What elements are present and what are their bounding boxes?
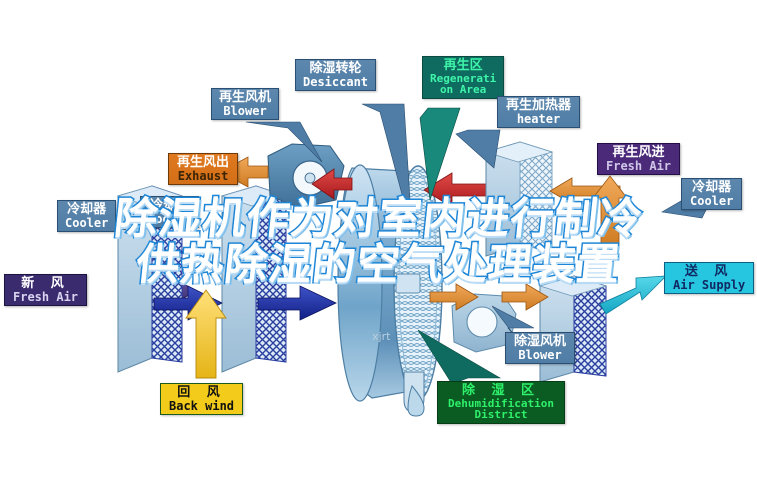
label-regeneration-heater-cn: 再生加热器: [506, 99, 571, 113]
label-cooler-left-1[interactable]: 冷却器 Cooler: [57, 200, 116, 232]
label-cooler-right-en: Cooler: [690, 195, 733, 208]
label-regeneration-area[interactable]: 再生区 Regenerati on Area: [422, 56, 504, 99]
label-cooler-left-1-cn: 冷却器: [65, 203, 108, 217]
label-dehumidification-blower[interactable]: 除湿风机 Blower: [505, 332, 575, 364]
watermark-text: xjrt: [372, 330, 391, 343]
label-regeneration-area-cn: 再生区: [430, 59, 496, 73]
label-fresh-air-cn: 新 风: [13, 277, 78, 291]
label-dehumidification-district-cn: 除 湿 区: [448, 384, 554, 398]
condensate-drip-icon: [404, 372, 424, 416]
label-regeneration-blower-en: Blower: [219, 105, 271, 118]
label-fresh-air[interactable]: 新 风 Fresh Air: [4, 274, 87, 306]
label-dehumidification-blower-cn: 除湿风机: [514, 335, 566, 349]
label-regeneration-blower[interactable]: 再生风机 Blower: [211, 88, 279, 120]
label-regeneration-area-en2: on Area: [430, 84, 496, 96]
label-air-supply-en: Air Supply: [673, 279, 745, 292]
label-regeneration-exhaust-cn: 再生风出: [177, 156, 229, 170]
arrow-air-supply: [600, 276, 666, 314]
label-regeneration-blower-cn: 再生风机: [219, 91, 271, 105]
cooler-coil-left-2: [222, 186, 286, 372]
label-cooler-left-2-en: Cooler: [148, 213, 191, 226]
schematic-illustration: xjrt: [0, 0, 757, 488]
label-desiccant-rotor-en: Desiccant: [303, 76, 368, 89]
label-regeneration-intake-cn: 再生风进: [606, 146, 671, 160]
label-cooler-right-cn: 冷却器: [690, 181, 733, 195]
label-regeneration-intake[interactable]: 再生风进 Fresh Air: [597, 143, 680, 175]
diagram-canvas: xjrt: [0, 0, 757, 488]
label-back-wind[interactable]: 回 风 Back wind: [160, 383, 243, 415]
label-regeneration-intake-en: Fresh Air: [606, 160, 671, 173]
desiccant-rotor-wheel: xjrt: [338, 165, 442, 401]
cooler-coil-right: [540, 276, 606, 382]
label-dehumidification-district[interactable]: 除 湿 区 Dehumidification District: [437, 381, 565, 424]
label-regeneration-exhaust-en: Exhaust: [177, 170, 229, 183]
label-air-supply-cn: 送 风: [673, 265, 745, 279]
label-dehumidification-blower-en: Blower: [514, 349, 566, 362]
label-cooler-left-2-cn: 冷却器: [148, 199, 191, 213]
label-regeneration-exhaust[interactable]: 再生风出 Exhaust: [168, 153, 238, 185]
label-cooler-right[interactable]: 冷却器 Cooler: [681, 178, 742, 210]
label-back-wind-en: Back wind: [169, 400, 234, 413]
label-regeneration-heater[interactable]: 再生加热器 heater: [497, 96, 580, 128]
label-desiccant-rotor-cn: 除湿转轮: [303, 62, 368, 76]
label-dehumidification-district-en2: District: [448, 409, 554, 421]
label-back-wind-cn: 回 风: [169, 386, 234, 400]
label-desiccant-rotor[interactable]: 除湿转轮 Desiccant: [295, 59, 376, 91]
label-fresh-air-en: Fresh Air: [13, 291, 78, 304]
label-regeneration-heater-en: heater: [506, 113, 571, 126]
label-air-supply[interactable]: 送 风 Air Supply: [664, 262, 754, 294]
label-cooler-left-1-en: Cooler: [65, 217, 108, 230]
regeneration-heater-block: [486, 142, 552, 256]
label-cooler-left-2[interactable]: 冷却器 Cooler: [140, 196, 199, 228]
